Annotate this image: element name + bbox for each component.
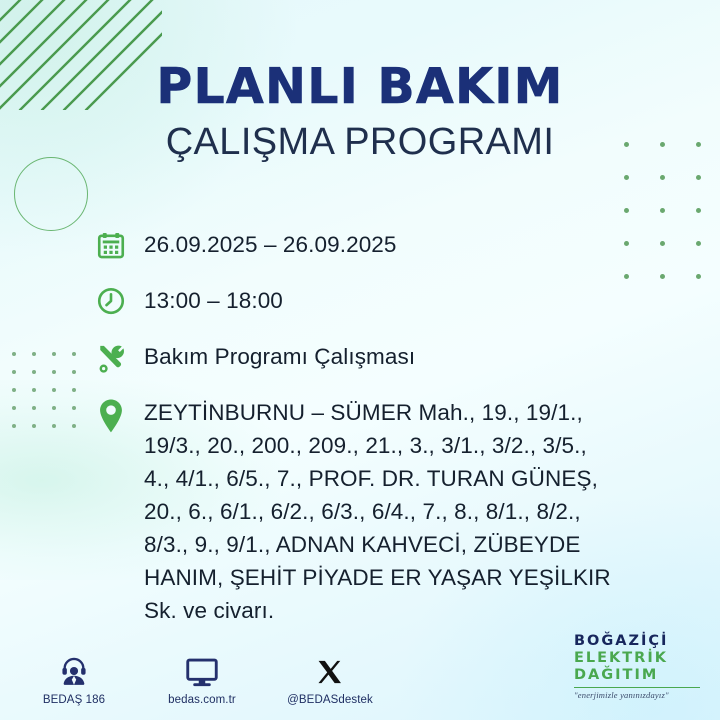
clock-icon xyxy=(96,284,144,318)
info-row-time: 13:00 – 18:00 xyxy=(96,284,656,318)
calendar-icon xyxy=(96,228,144,262)
contact-website-label: bedas.com.tr xyxy=(168,694,236,706)
contact-phone[interactable]: BEDAŞ 186 xyxy=(28,654,120,706)
page-title: PLANLI BAKIM xyxy=(0,62,720,111)
date-range-text: 26.09.2025 – 26.09.2025 xyxy=(144,228,397,262)
page-subtitle: ÇALIŞMA PROGRAMI xyxy=(0,123,720,161)
brand-logo: BOĞAZİÇİ ELEKTRİK DAĞITIM "enerjimizle y… xyxy=(574,633,704,700)
contact-website[interactable]: bedas.com.tr xyxy=(156,654,248,706)
dot-grid-left-decoration xyxy=(12,352,77,428)
affected-area-text: ZEYTİNBURNU – SÜMER Mah., 19., 19/1., 19… xyxy=(144,396,614,627)
info-row-worktype: Bakım Programı Çalışması xyxy=(96,340,656,374)
info-row-address: ZEYTİNBURNU – SÜMER Mah., 19., 19/1., 19… xyxy=(96,396,656,627)
brand-line-2: ELEKTRİK xyxy=(574,650,704,667)
brand-line-1: BOĞAZİÇİ xyxy=(574,633,704,650)
contact-x-label: @BEDASdestek xyxy=(287,694,373,706)
brand-tagline: "enerjimizle yanınızdayız" xyxy=(574,690,704,700)
contact-channels: BEDAŞ 186 bedas.com.tr xyxy=(28,654,376,706)
tools-icon xyxy=(96,340,144,374)
info-list: 26.09.2025 – 26.09.2025 13:00 – 18:00 xyxy=(96,228,656,627)
brand-line-3: DAĞITIM xyxy=(574,667,704,684)
poster-footer: BEDAŞ 186 bedas.com.tr xyxy=(0,624,720,720)
brand-divider xyxy=(574,687,700,688)
planned-maintenance-poster: PLANLI BAKIM ÇALIŞMA PROGRAMI xyxy=(0,0,720,720)
info-row-date: 26.09.2025 – 26.09.2025 xyxy=(96,228,656,262)
contact-phone-label: BEDAŞ 186 xyxy=(43,694,105,706)
contact-x-account[interactable]: @BEDASdestek xyxy=(284,654,376,706)
location-pin-icon xyxy=(96,396,144,436)
poster-header: PLANLI BAKIM ÇALIŞMA PROGRAMI xyxy=(0,62,720,161)
x-twitter-icon xyxy=(316,654,344,688)
time-range-text: 13:00 – 18:00 xyxy=(144,284,283,318)
headset-support-icon xyxy=(59,654,89,688)
work-type-text: Bakım Programı Çalışması xyxy=(144,340,415,374)
circle-outline-decoration xyxy=(14,157,88,231)
monitor-icon xyxy=(185,654,219,688)
